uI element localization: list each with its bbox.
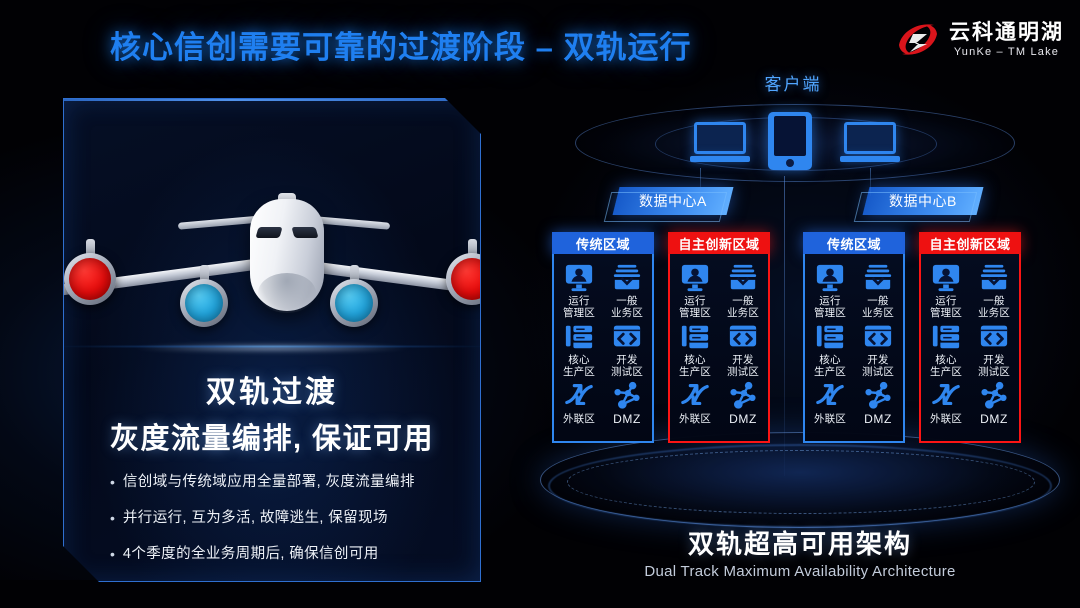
cockpit-window-left	[255, 227, 282, 238]
laptop-icon	[840, 122, 900, 164]
server-core-icon	[564, 321, 594, 351]
zone-column-traditional-3[interactable]: 传统区域运行 管理区一般 业务区核心 生产区开发 测试区外联区DMZ	[803, 232, 905, 443]
zone-cell[interactable]: 运行 管理区	[923, 262, 969, 319]
zone-cell-label: DMZ	[729, 413, 757, 425]
zone-cell[interactable]: DMZ	[720, 380, 766, 437]
server-core-icon	[815, 321, 845, 351]
cockpit-window-right	[291, 227, 318, 238]
bullet-dot-icon: •	[110, 509, 115, 527]
zone-column-innovation-2[interactable]: 自主创新区域运行 管理区一般 业务区核心 生产区开发 测试区外联区DMZ	[668, 232, 770, 443]
list-item: • 信创域与传统域应用全量部署, 灰度流量编排	[110, 473, 460, 492]
zone-cell-label: 运行 管理区	[814, 295, 846, 319]
zone-cell[interactable]: 外联区	[923, 380, 969, 437]
architecture-title: 双轨超高可用架构	[540, 524, 1060, 561]
slide-root: 核心信创需要可靠的过渡阶段 – 双轨运行 云科通明湖 YunKe – TM La…	[0, 0, 1080, 608]
logo-text-cn: 云科通明湖	[949, 22, 1064, 43]
list-item: • 并行运行, 互为多活, 故障逃生, 保留现场	[110, 509, 460, 528]
engine-inner-left-blue	[180, 279, 228, 327]
zone-cell-label: 核心 生产区	[930, 354, 962, 378]
zone-cell-label: 开发 测试区	[611, 354, 643, 378]
zone-body: 运行 管理区一般 业务区核心 生产区开发 测试区外联区DMZ	[919, 254, 1021, 443]
code-brackets-icon	[612, 321, 642, 351]
zone-cell-label: 开发 测试区	[862, 354, 894, 378]
zone-header-label: 自主创新区域	[929, 234, 1010, 253]
zone-cell[interactable]: 外联区	[672, 380, 718, 437]
zone-cell-label: DMZ	[864, 413, 892, 425]
layers-inbox-icon	[979, 262, 1009, 292]
zone-cell-label: 一般 业务区	[978, 295, 1010, 319]
routing-arrows-icon	[931, 380, 961, 410]
zone-column-innovation-4[interactable]: 自主创新区域运行 管理区一般 业务区核心 生产区开发 测试区外联区DMZ	[919, 232, 1021, 443]
zone-cell-label: 外联区	[563, 413, 595, 425]
zone-cell[interactable]: 核心 生产区	[672, 321, 718, 378]
bullet-text: 并行运行, 互为多活, 故障逃生, 保留现场	[123, 509, 388, 528]
zone-cell-label: 外联区	[814, 413, 846, 425]
panel-bullet-list: • 信创域与传统域应用全量部署, 灰度流量编排 • 并行运行, 互为多活, 故障…	[110, 473, 460, 581]
zone-cell[interactable]: DMZ	[971, 380, 1017, 437]
zone-header-label: 传统区域	[576, 234, 630, 253]
zone-body: 运行 管理区一般 业务区核心 生产区开发 测试区外联区DMZ	[803, 254, 905, 443]
bullet-text: 4个季度的全业务周期后, 确保信创可用	[123, 545, 379, 564]
architecture-subtitle: Dual Track Maximum Availability Architec…	[540, 563, 1060, 580]
zone-cell-label: 核心 生产区	[563, 354, 595, 378]
server-core-icon	[680, 321, 710, 351]
network-nodes-icon	[863, 380, 893, 410]
layers-inbox-icon	[612, 262, 642, 292]
zone-cell-label: 运行 管理区	[930, 295, 962, 319]
layers-inbox-icon	[863, 262, 893, 292]
zone-cell-label: 核心 生产区	[679, 354, 711, 378]
zone-column-group: 传统区域运行 管理区一般 业务区核心 生产区开发 测试区外联区DMZ自主创新区域…	[548, 232, 1028, 464]
client-tier-label: 客户端	[738, 70, 848, 95]
network-nodes-icon	[728, 380, 758, 410]
zone-header: 传统区域	[803, 232, 905, 254]
user-monitor-icon	[815, 262, 845, 292]
panel-headline: 双轨过渡	[64, 367, 480, 411]
zone-body: 运行 管理区一般 业务区核心 生产区开发 测试区外联区DMZ	[552, 254, 654, 443]
connector-line-1	[700, 168, 701, 196]
bullet-dot-icon: •	[110, 545, 115, 563]
datacenter-banner-b: 数据中心B	[863, 187, 984, 215]
zone-cell-label: 核心 生产区	[814, 354, 846, 378]
zone-cell[interactable]: 开发 测试区	[855, 321, 901, 378]
zone-cell[interactable]: DMZ	[604, 380, 650, 437]
zone-cell[interactable]: 核心 生产区	[923, 321, 969, 378]
horizon-light-streak	[63, 345, 481, 348]
zone-cell[interactable]: 外联区	[807, 380, 853, 437]
zone-cell[interactable]: 核心 生产区	[556, 321, 602, 378]
routing-arrows-icon	[815, 380, 845, 410]
zone-cell[interactable]: 一般 业务区	[971, 262, 1017, 319]
zone-cell-label: 运行 管理区	[563, 295, 595, 319]
datacenter-banner-a-label: 数据中心A	[639, 191, 707, 211]
engine-inner-right-blue	[330, 279, 378, 327]
network-nodes-icon	[979, 380, 1009, 410]
zone-cell-label: 外联区	[679, 413, 711, 425]
zone-header: 自主创新区域	[668, 232, 770, 254]
list-item: • 4个季度的全业务周期后, 确保信创可用	[110, 545, 460, 564]
nose-shading	[258, 273, 316, 313]
user-monitor-icon	[564, 262, 594, 292]
zone-cell-label: 一般 业务区	[862, 295, 894, 319]
connector-line-2	[870, 168, 871, 196]
zone-cell[interactable]: 运行 管理区	[807, 262, 853, 319]
engine-intake-face	[69, 258, 111, 300]
logo-text-en: YunKe – TM Lake	[954, 47, 1059, 58]
zone-cell-label: DMZ	[980, 413, 1008, 425]
left-feature-panel: 双轨过渡 灰度流量编排, 保证可用 • 信创域与传统域应用全量部署, 灰度流量编…	[63, 98, 481, 582]
brand-logo: 云科通明湖 YunKe – TM Lake	[896, 20, 1064, 60]
zone-cell[interactable]: 运行 管理区	[672, 262, 718, 319]
code-brackets-icon	[728, 321, 758, 351]
user-monitor-icon	[931, 262, 961, 292]
zone-cell[interactable]: 一般 业务区	[720, 262, 766, 319]
client-device-group	[690, 108, 900, 166]
zone-cell[interactable]: 开发 测试区	[971, 321, 1017, 378]
network-nodes-icon	[612, 380, 642, 410]
laptop-icon	[690, 122, 750, 164]
zone-cell[interactable]: 开发 测试区	[604, 321, 650, 378]
zone-cell-label: 一般 业务区	[611, 295, 643, 319]
zone-cell[interactable]: 一般 业务区	[855, 262, 901, 319]
zone-cell[interactable]: 运行 管理区	[556, 262, 602, 319]
zone-header: 传统区域	[552, 232, 654, 254]
zone-body: 运行 管理区一般 业务区核心 生产区开发 测试区外联区DMZ	[668, 254, 770, 443]
code-brackets-icon	[979, 321, 1009, 351]
zone-header: 自主创新区域	[919, 232, 1021, 254]
user-monitor-icon	[680, 262, 710, 292]
panel-top-accent-line	[64, 99, 480, 101]
tablet-icon	[768, 112, 812, 170]
zone-cell[interactable]: 一般 业务区	[604, 262, 650, 319]
zone-cell[interactable]: 外联区	[556, 380, 602, 437]
zone-cell-label: 外联区	[930, 413, 962, 425]
datacenter-banner-b-label: 数据中心B	[889, 191, 957, 211]
engine-intake-face	[185, 284, 223, 322]
zone-cell[interactable]: 核心 生产区	[807, 321, 853, 378]
zone-cell-label: 开发 测试区	[727, 354, 759, 378]
zone-cell-label: DMZ	[613, 413, 641, 425]
server-core-icon	[931, 321, 961, 351]
code-brackets-icon	[863, 321, 893, 351]
zone-cell-label: 运行 管理区	[679, 295, 711, 319]
bullet-text: 信创域与传统域应用全量部署, 灰度流量编排	[123, 473, 415, 492]
bullet-dot-icon: •	[110, 473, 115, 491]
zone-cell-label: 开发 测试区	[978, 354, 1010, 378]
zone-header-label: 自主创新区域	[678, 234, 759, 253]
routing-arrows-icon	[680, 380, 710, 410]
panel-subheadline: 灰度流量编排, 保证可用	[64, 415, 480, 457]
zone-cell[interactable]: 开发 测试区	[720, 321, 766, 378]
zone-cell-label: 一般 业务区	[727, 295, 759, 319]
zone-header-label: 传统区域	[827, 234, 881, 253]
page-title: 核心信创需要可靠的过渡阶段 – 双轨运行	[110, 22, 691, 67]
routing-arrows-icon	[564, 380, 594, 410]
layers-inbox-icon	[728, 262, 758, 292]
zone-column-traditional-1[interactable]: 传统区域运行 管理区一般 业务区核心 生产区开发 测试区外联区DMZ	[552, 232, 654, 443]
engine-intake-face	[335, 284, 373, 322]
zone-cell[interactable]: DMZ	[855, 380, 901, 437]
engine-outer-left-red	[64, 253, 116, 305]
datacenter-banner-a: 数据中心A	[613, 187, 734, 215]
swirl-logo-icon	[896, 20, 940, 60]
